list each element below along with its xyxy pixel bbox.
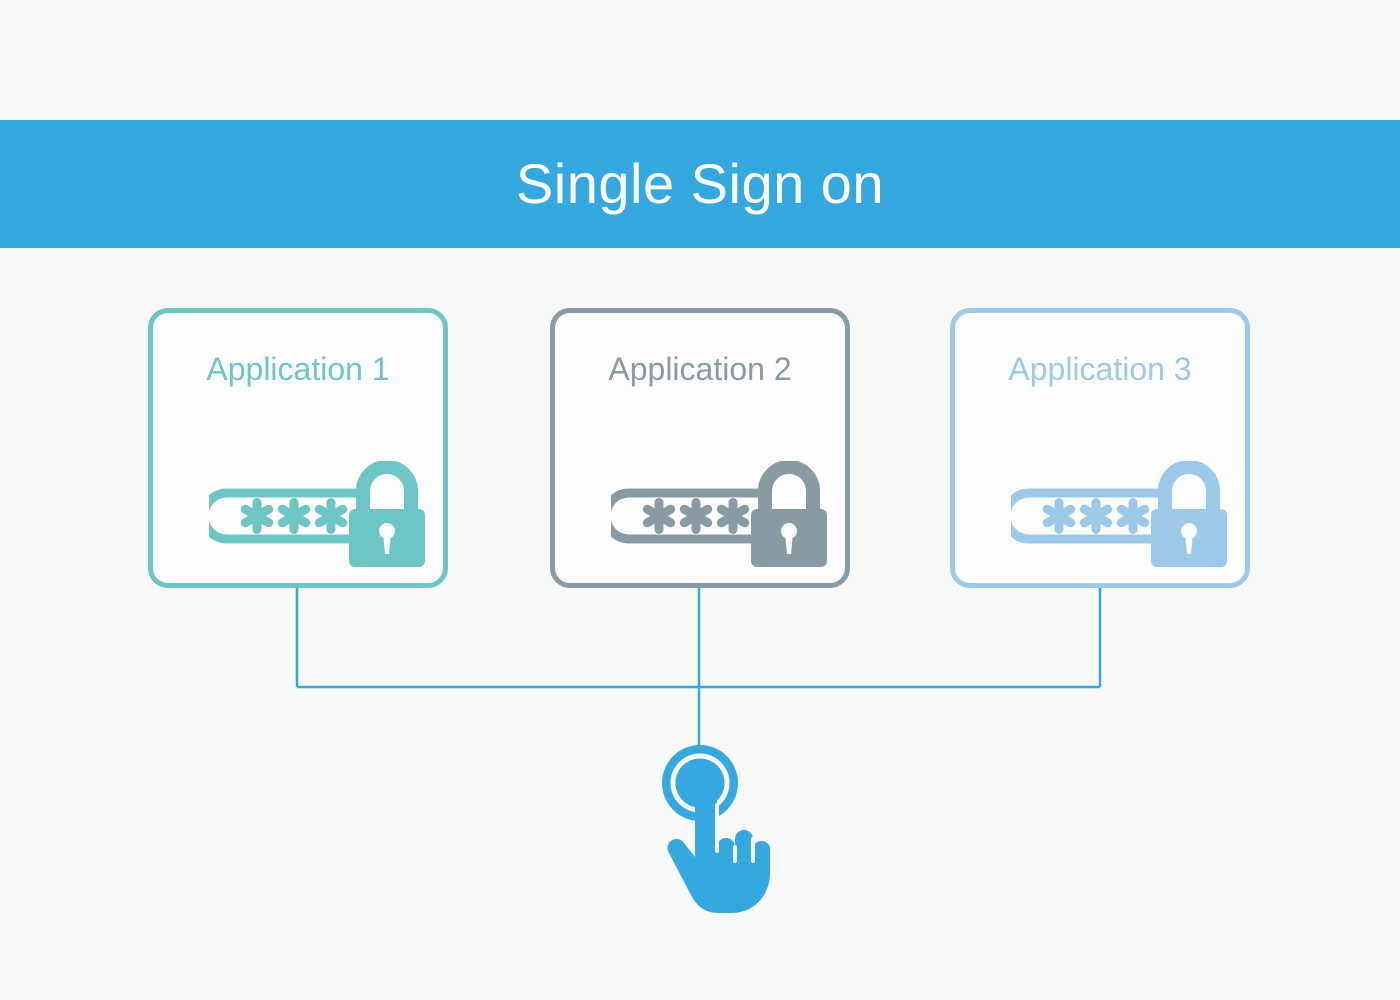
application-card-3[interactable]: Application 3 xyxy=(950,308,1250,588)
application-card-2-label: Application 2 xyxy=(555,353,845,385)
application-card-2[interactable]: Application 2 xyxy=(550,308,850,588)
credentials-graphic-1 xyxy=(209,461,429,571)
password-mask-asterisks xyxy=(239,498,349,534)
credentials-graphic-2 xyxy=(611,461,831,571)
password-mask-asterisks xyxy=(1041,498,1151,534)
application-card-3-label: Application 3 xyxy=(955,353,1245,385)
hand-tap-icon[interactable] xyxy=(650,735,780,915)
padlock-icon xyxy=(751,467,827,567)
padlock-icon xyxy=(1151,467,1227,567)
padlock-icon xyxy=(349,467,425,567)
password-mask-asterisks xyxy=(641,498,751,534)
application-card-1[interactable]: Application 1 xyxy=(148,308,448,588)
application-card-1-label: Application 1 xyxy=(153,353,443,385)
credentials-graphic-3 xyxy=(1011,461,1231,571)
sso-diagram: Application 1 xyxy=(0,0,1400,1000)
